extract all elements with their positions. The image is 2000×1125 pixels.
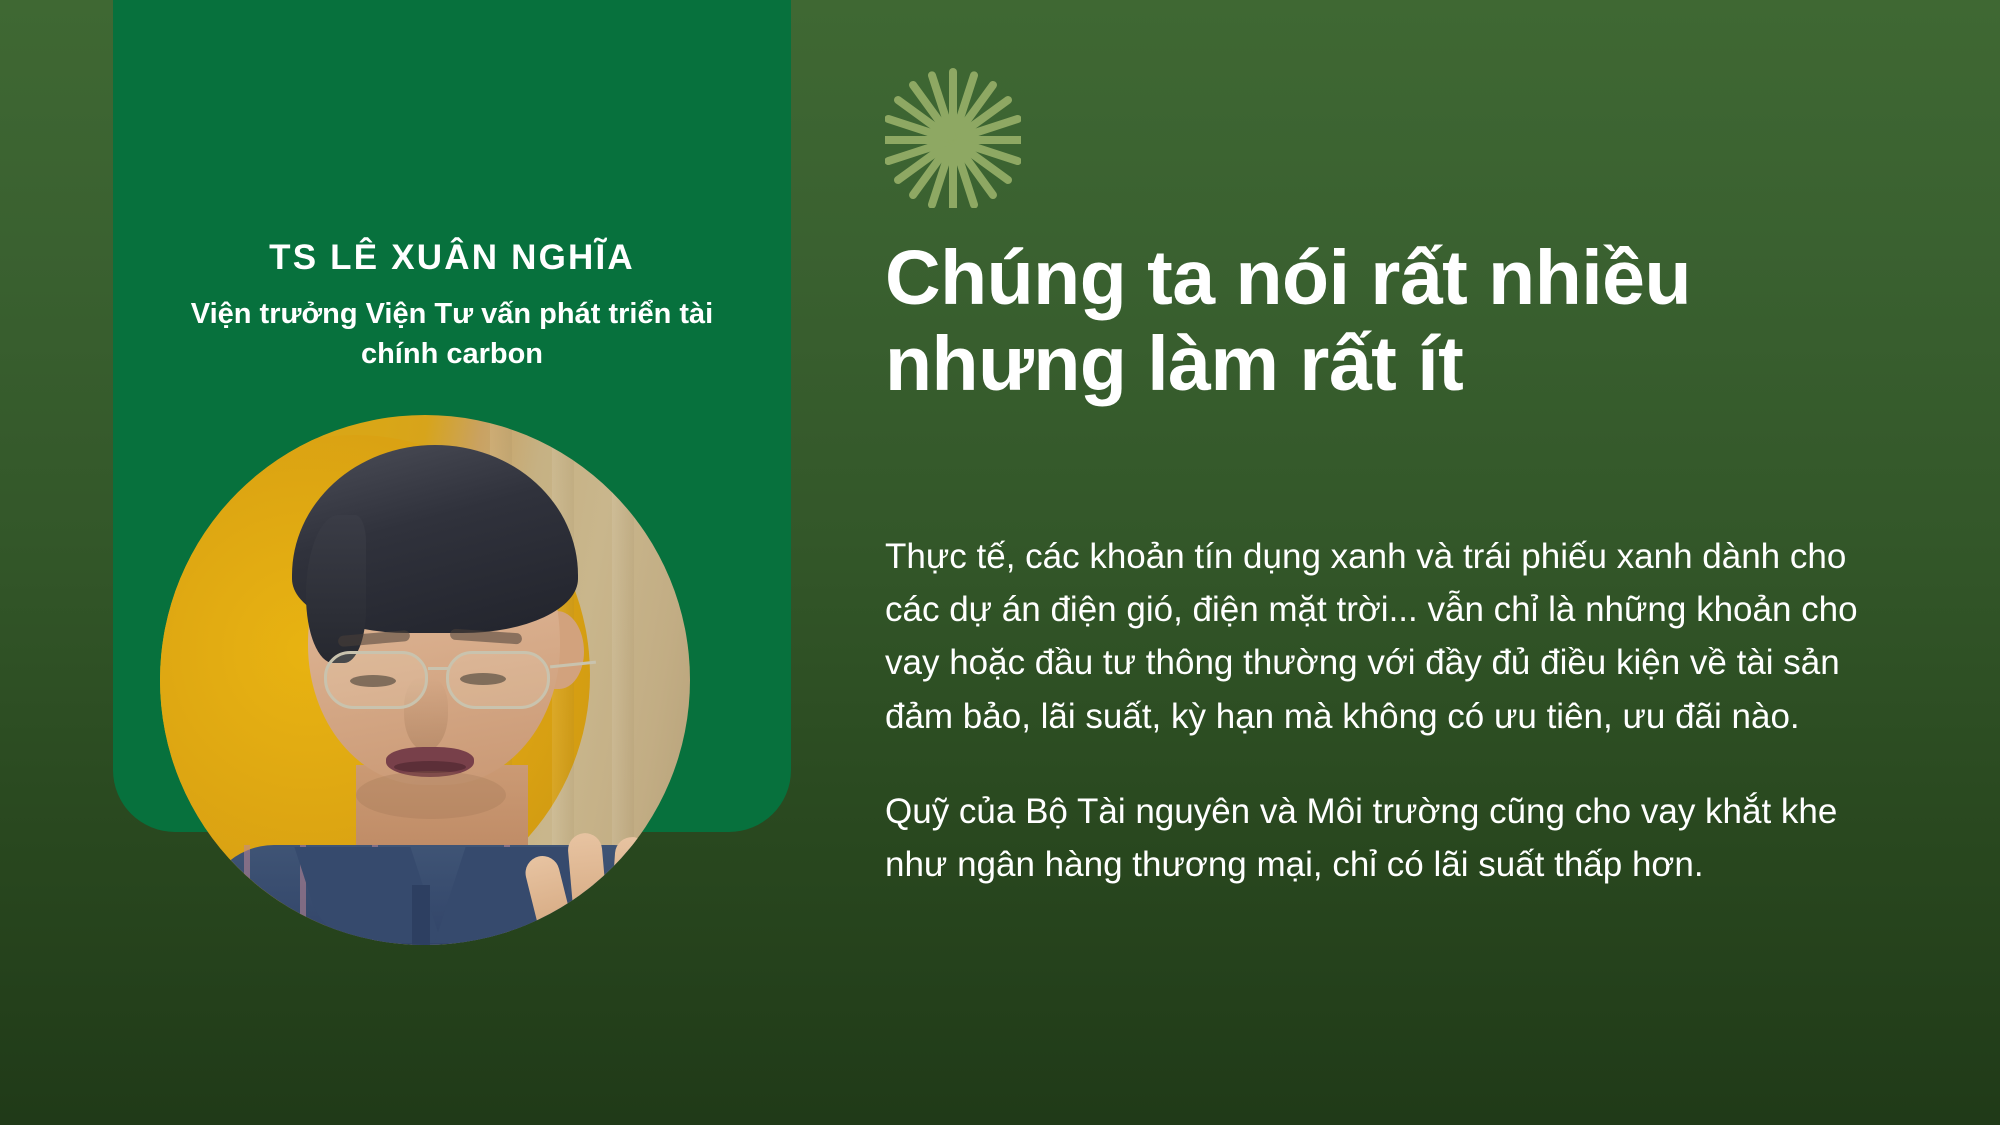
quote-paragraph-2: Quỹ của Bộ Tài nguyên và Môi trường cũng… (885, 785, 1885, 891)
sunburst-icon (885, 62, 1021, 208)
portrait-glasses (318, 651, 576, 713)
quote-paragraph-1: Thực tế, các khoản tín dụng xanh và trái… (885, 530, 1885, 743)
page-title: Chúng ta nói rất nhiều nhưng làm rất ít (885, 235, 1930, 407)
speaker-role: Viện trưởng Viện Tư vấn phát triển tài c… (172, 294, 732, 374)
quote-body: Thực tế, các khoản tín dụng xanh và trái… (885, 530, 1885, 891)
quote-card-slide: TS LÊ XUÂN NGHĨA Viện trưởng Viện Tư vấn… (0, 0, 2000, 1125)
portrait-illustration (160, 415, 690, 945)
speaker-name: TS LÊ XUÂN NGHĨA (153, 238, 751, 278)
portrait-chin (356, 771, 506, 819)
portrait-shirt-placket (412, 885, 430, 945)
portrait-hand (512, 815, 690, 945)
speaker-info: TS LÊ XUÂN NGHĨA Viện trưởng Viện Tư vấn… (113, 238, 791, 374)
quote-column: Chúng ta nói rất nhiều nhưng làm rất ít … (885, 0, 1930, 1125)
speaker-portrait (160, 415, 690, 945)
